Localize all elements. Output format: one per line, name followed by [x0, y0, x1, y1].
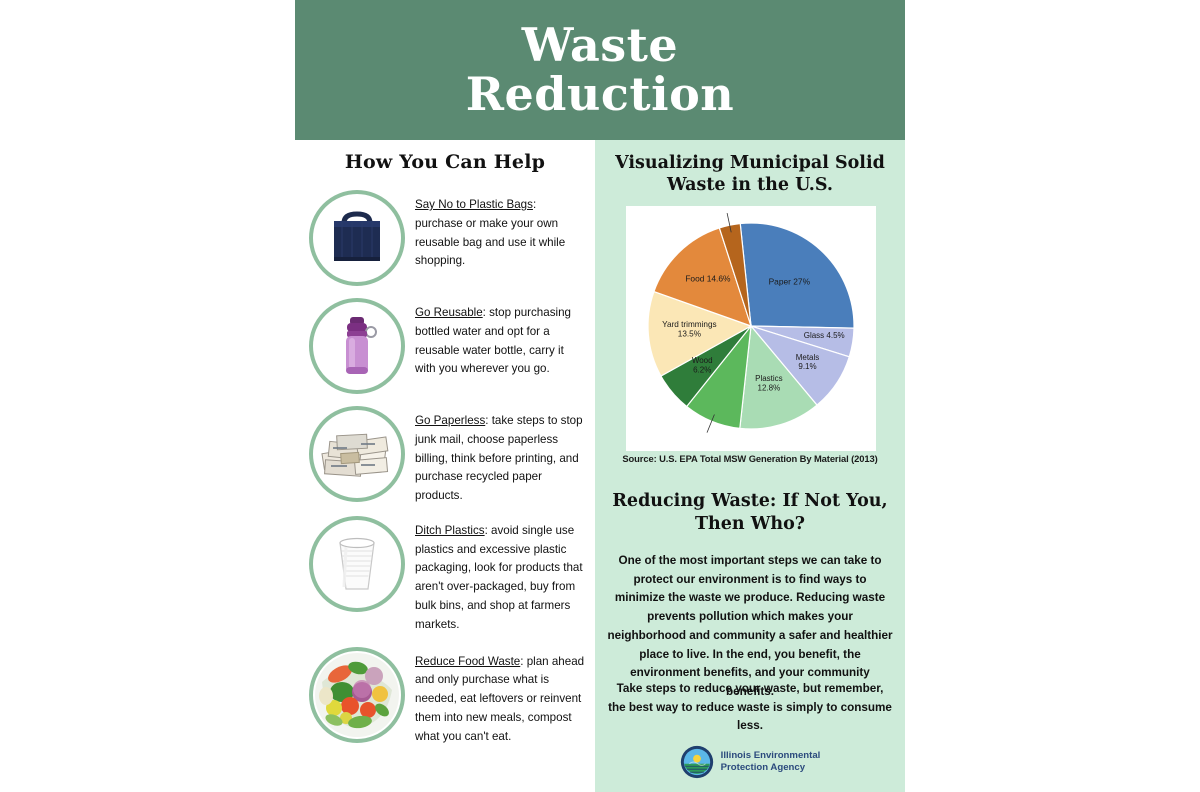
- iepa-logo-text: Illinois Environmental Protection Agency: [721, 750, 821, 774]
- list-item-text: Reduce Food Waste: plan ahead and only p…: [415, 647, 595, 747]
- list-item: Go Paperless: take steps to stop junk ma…: [295, 406, 595, 506]
- pie-slice-label: Glass 4.5%: [804, 331, 845, 340]
- junk-mail-pile-icon: [309, 406, 405, 502]
- tip-body: : take steps to stop junk mail, choose p…: [415, 414, 583, 502]
- pie-slice-label: Paper 27%: [769, 276, 811, 286]
- poster-header-band: Waste Reduction: [295, 0, 905, 140]
- infographic-poster: Waste Reduction How You Can Help: [0, 0, 1200, 792]
- iepa-logo: Illinois Environmental Protection Agency: [595, 745, 905, 779]
- list-item-text: Go Reusable: stop purchasing bottled wat…: [415, 298, 595, 379]
- tip-term: Ditch Plastics: [415, 524, 485, 537]
- page-title-line-1: Waste: [522, 18, 678, 72]
- body-paragraph-2: Take steps to reduce your waste, but rem…: [595, 680, 905, 736]
- left-column-heading: How You Can Help: [295, 151, 595, 173]
- tip-term: Go Paperless: [415, 414, 485, 427]
- page-title: Waste Reduction: [466, 21, 734, 119]
- reusable-shopping-bag-icon: [309, 190, 405, 286]
- disposable-plastic-cup-icon: [309, 516, 405, 612]
- pie-chart-card: Paper 27%Glass 4.5%Metals9.1%Plastics12.…: [626, 206, 876, 451]
- iepa-logo-mark: [680, 745, 714, 779]
- pie-chart: Paper 27%Glass 4.5%Metals9.1%Plastics12.…: [626, 206, 876, 451]
- tip-term: Say No to Plastic Bags: [415, 198, 533, 211]
- list-item: Ditch Plastics: avoid single use plastic…: [295, 516, 595, 635]
- pie-slice-label: Metals9.1%: [796, 353, 820, 371]
- list-item-text: Go Paperless: take steps to stop junk ma…: [415, 406, 595, 506]
- pie-slice-label: Plastics12.8%: [755, 374, 783, 392]
- how-you-can-help-column: How You Can Help Say No to Plastic Bags:…: [295, 140, 595, 792]
- chart-heading: Visualizing Municipal Solid Waste in the…: [595, 140, 905, 197]
- page-title-line-2: Reduction: [466, 70, 734, 119]
- chart-source-caption: Source: U.S. EPA Total MSW Generation By…: [595, 453, 905, 464]
- fresh-vegetables-bowl-icon: [309, 647, 405, 743]
- tip-term: Reduce Food Waste: [415, 655, 520, 668]
- iepa-logo-line-1: Illinois Environmental: [721, 750, 821, 762]
- list-item-text: Say No to Plastic Bags: purchase or make…: [415, 190, 595, 271]
- list-item: Say No to Plastic Bags: purchase or make…: [295, 190, 595, 286]
- reusable-water-bottle-icon: [309, 298, 405, 394]
- msw-visualization-panel: Visualizing Municipal Solid Waste in the…: [595, 140, 905, 792]
- list-item: Go Reusable: stop purchasing bottled wat…: [295, 298, 595, 394]
- list-item-text: Ditch Plastics: avoid single use plastic…: [415, 516, 595, 635]
- iepa-logo-line-2: Protection Agency: [721, 762, 821, 774]
- tip-term: Go Reusable: [415, 306, 483, 319]
- pie-slice-label: Rubber, leather& textiles 9%: [669, 450, 721, 451]
- tips-list: Say No to Plastic Bags: purchase or make…: [295, 188, 595, 757]
- reducing-waste-heading: Reducing Waste: If Not You, Then Who?: [595, 490, 905, 536]
- tip-body: : avoid single use plastics and excessiv…: [415, 524, 583, 631]
- pie-slice-label: Food 14.6%: [685, 274, 731, 284]
- pie-slice-label: Wood6.2%: [692, 356, 713, 374]
- list-item: Reduce Food Waste: plan ahead and only p…: [295, 647, 595, 747]
